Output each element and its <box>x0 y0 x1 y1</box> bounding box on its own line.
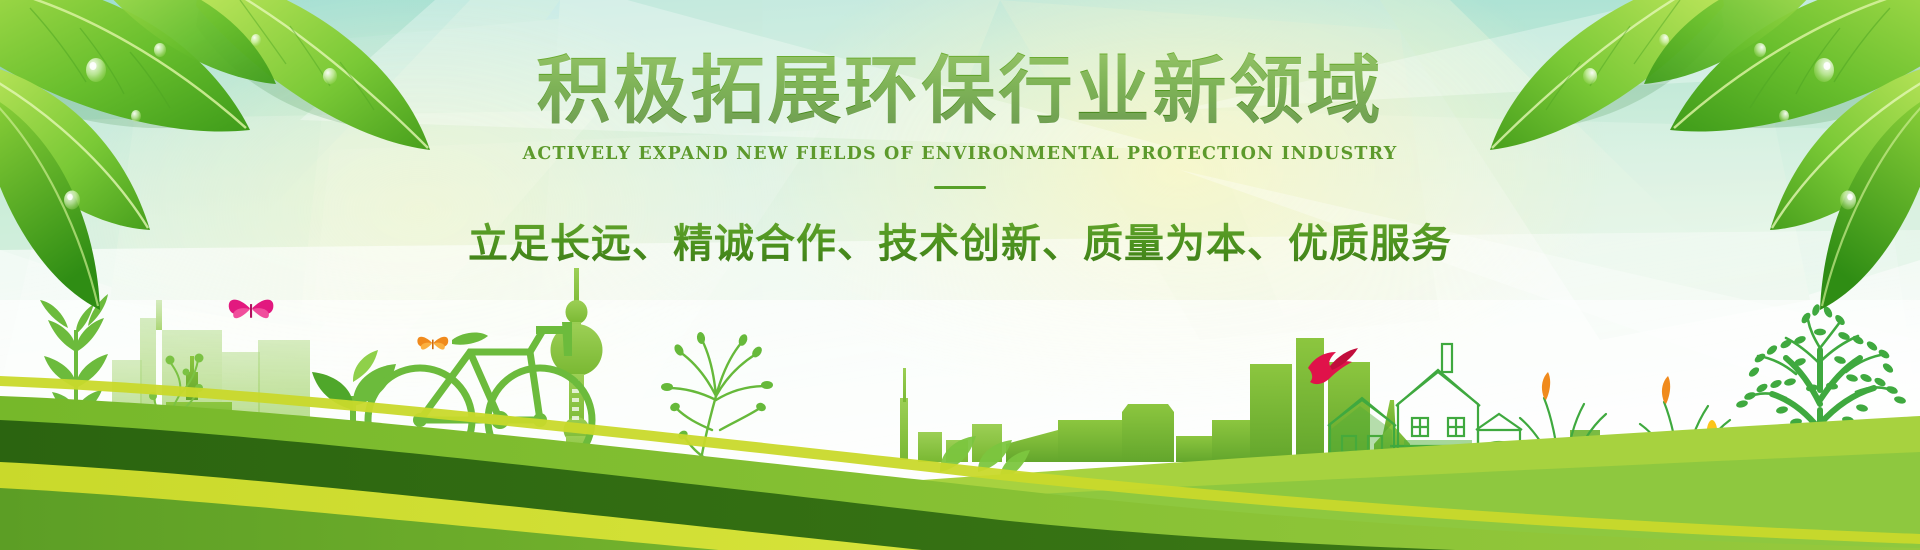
banner-tagline: 立足长远、精诚合作、技术创新、质量为本、优质服务 <box>0 211 1920 269</box>
title-divider <box>934 186 986 189</box>
eco-banner: 积极拓展环保行业新领域 ACTIVELY EXPAND NEW FIELDS O… <box>0 0 1920 550</box>
banner-subtitle: ACTIVELY EXPAND NEW FIELDS OF ENVIRONMEN… <box>0 144 1920 164</box>
banner-text-block: 积极拓展环保行业新领域 ACTIVELY EXPAND NEW FIELDS O… <box>0 52 1920 269</box>
page-title: 积极拓展环保行业新领域 <box>0 52 1920 130</box>
